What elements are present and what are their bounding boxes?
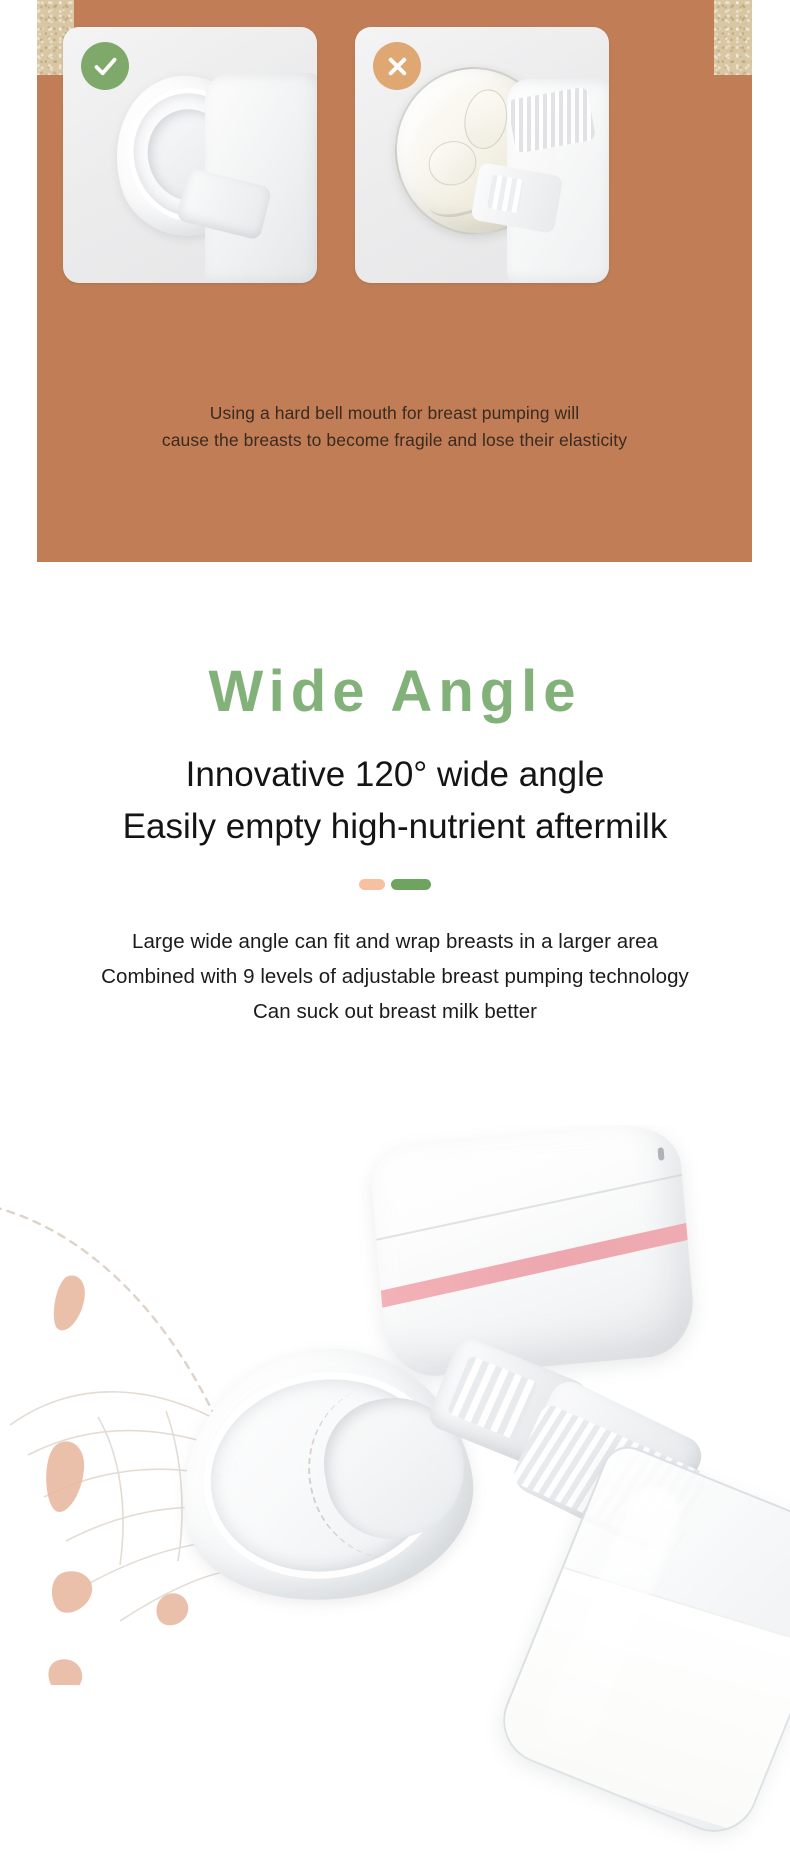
comparison-panel: Using a hard bell mouth for breast pumpi… bbox=[37, 0, 752, 562]
milk-bottle bbox=[490, 1439, 790, 1845]
cross-icon bbox=[373, 42, 421, 90]
pink-accent-stripe bbox=[368, 1211, 697, 1316]
caption-line-1: Using a hard bell mouth for breast pumpi… bbox=[37, 400, 752, 427]
body-line-3: Can suck out breast milk better bbox=[0, 994, 790, 1029]
comparison-caption: Using a hard bell mouth for breast pumpi… bbox=[37, 400, 752, 454]
body-copy: Large wide angle can fit and wrap breast… bbox=[0, 924, 790, 1030]
section-title: Wide Angle bbox=[0, 658, 790, 725]
silicone-flange bbox=[160, 1327, 489, 1624]
comparison-card-incorrect bbox=[355, 27, 609, 283]
caption-line-2: cause the breasts to become fragile and … bbox=[37, 427, 752, 454]
divider-pill-green bbox=[391, 879, 431, 890]
product-hero-image bbox=[0, 1125, 790, 1875]
subheading-primary: Innovative 120° wide angle bbox=[0, 749, 790, 801]
comparison-card-correct bbox=[63, 27, 317, 283]
divider-pill-peach bbox=[359, 879, 385, 890]
subheading-secondary: Easily empty high-nutrient aftermilk bbox=[0, 801, 790, 853]
check-icon bbox=[81, 42, 129, 90]
body-line-2: Combined with 9 levels of adjustable bre… bbox=[0, 959, 790, 994]
breast-pump-product bbox=[330, 1125, 790, 1875]
decorative-divider bbox=[350, 879, 440, 890]
wide-angle-section: Wide Angle Innovative 120° wide angle Ea… bbox=[0, 562, 790, 1029]
power-button-icon bbox=[657, 1147, 664, 1160]
body-line-1: Large wide angle can fit and wrap breast… bbox=[0, 924, 790, 959]
corner-texture-strip-right bbox=[714, 0, 752, 75]
